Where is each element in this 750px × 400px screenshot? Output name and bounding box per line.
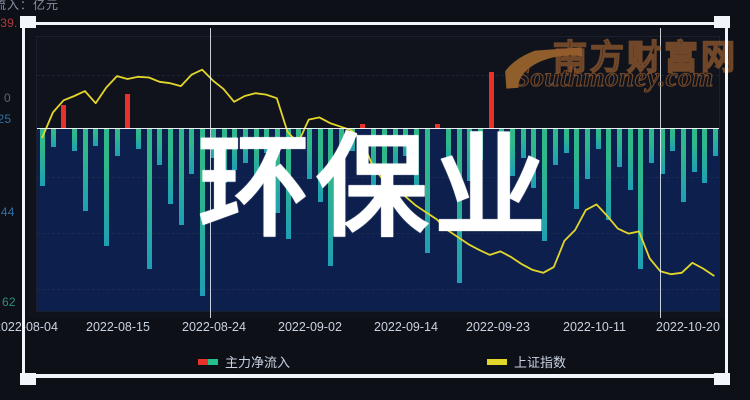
- x-axis-label-4: 2022-09-14: [374, 320, 438, 334]
- legend-item-shanghai-index[interactable]: 上证指数: [487, 352, 566, 371]
- x-axis-label-5: 2022-09-23: [466, 320, 530, 334]
- chart-legend: 主力净流入 上证指数: [0, 352, 750, 376]
- legend-label-shanghai-index: 上证指数: [514, 352, 566, 371]
- x-axis-label-7: 2022-10-20: [656, 320, 720, 334]
- legend-label-main-net-inflow: 主力净流入: [225, 352, 290, 371]
- x-axis-label-6: 2022-10-11: [563, 320, 626, 334]
- line-series-shanghai-index: [37, 37, 719, 311]
- x-axis: 2022-08-04 2022-08-15 2022-08-24 2022-09…: [0, 320, 750, 342]
- y-axis-label-1: 0: [4, 91, 11, 105]
- x-axis-label-2: 2022-08-24: [182, 320, 246, 334]
- chart-plot-area[interactable]: [28, 28, 728, 318]
- chart-screenshot-root: 流入：亿元 -39. 0 .25 644 62 2022-08-04: [0, 0, 750, 400]
- x-axis-label-0: 2022-08-04: [0, 320, 58, 334]
- legend-item-main-net-inflow[interactable]: 主力净流入: [198, 352, 290, 371]
- y-axis-label-0: -39.: [0, 16, 17, 30]
- zero-reference-line: [37, 128, 719, 129]
- x-axis-label-1: 2022-08-15: [86, 320, 150, 334]
- crosshair-vertical-left[interactable]: [210, 28, 211, 318]
- legend-swatch-split-icon: [198, 359, 218, 365]
- y-axis-label-4: 62: [2, 295, 16, 309]
- y-axis-label-3: 644: [0, 205, 15, 219]
- y-axis-unit-label: 流入：亿元: [0, 0, 59, 13]
- y-axis-label-2: .25: [0, 112, 11, 126]
- legend-swatch-line-icon: [487, 359, 507, 365]
- plot-inner-frame: [36, 36, 720, 312]
- crosshair-vertical-right[interactable]: [660, 28, 661, 318]
- x-axis-label-3: 2022-09-02: [278, 320, 342, 334]
